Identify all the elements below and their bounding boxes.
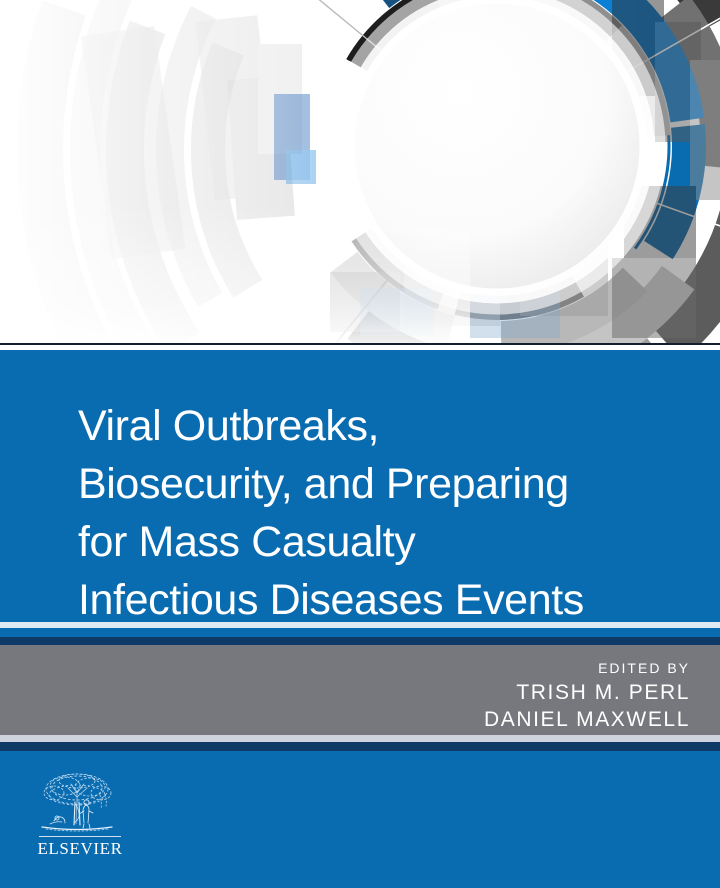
- title-line-1: Viral Outbreaks,: [78, 397, 694, 455]
- edited-by-label: EDITED BY: [484, 657, 690, 679]
- title-line-2: Biosecurity, and Preparing: [78, 455, 694, 513]
- divider-navy-lower: [0, 742, 720, 751]
- artwork-bottom-rule: [0, 343, 720, 345]
- divider-navy-upper: [0, 637, 720, 645]
- publisher-logo: ELSEVIER: [32, 771, 128, 859]
- abstract-ring-graphic: [0, 0, 720, 345]
- logo-divider-rule: [39, 836, 121, 837]
- title-line-3: for Mass Casualty: [78, 513, 694, 571]
- elsevier-tree-icon: [32, 771, 122, 833]
- editor-name-2: DANIEL MAXWELL: [484, 706, 690, 733]
- book-cover: Viral Outbreaks, Biosecurity, and Prepar…: [0, 0, 720, 888]
- title-band: Viral Outbreaks, Biosecurity, and Prepar…: [0, 350, 720, 622]
- divider-blue-upper: [0, 628, 720, 637]
- editors-band: EDITED BY TRISH M. PERL DANIEL MAXWELL: [0, 645, 720, 735]
- publisher-band: ELSEVIER: [0, 751, 720, 888]
- divider-light-lower: [0, 735, 720, 742]
- cover-artwork: [0, 0, 720, 345]
- title-line-4: Infectious Diseases Events: [78, 571, 694, 629]
- publisher-name: ELSEVIER: [32, 839, 128, 859]
- editor-name-1: TRISH M. PERL: [484, 679, 690, 706]
- editors-block: EDITED BY TRISH M. PERL DANIEL MAXWELL: [484, 657, 690, 733]
- book-title: Viral Outbreaks, Biosecurity, and Prepar…: [78, 397, 694, 629]
